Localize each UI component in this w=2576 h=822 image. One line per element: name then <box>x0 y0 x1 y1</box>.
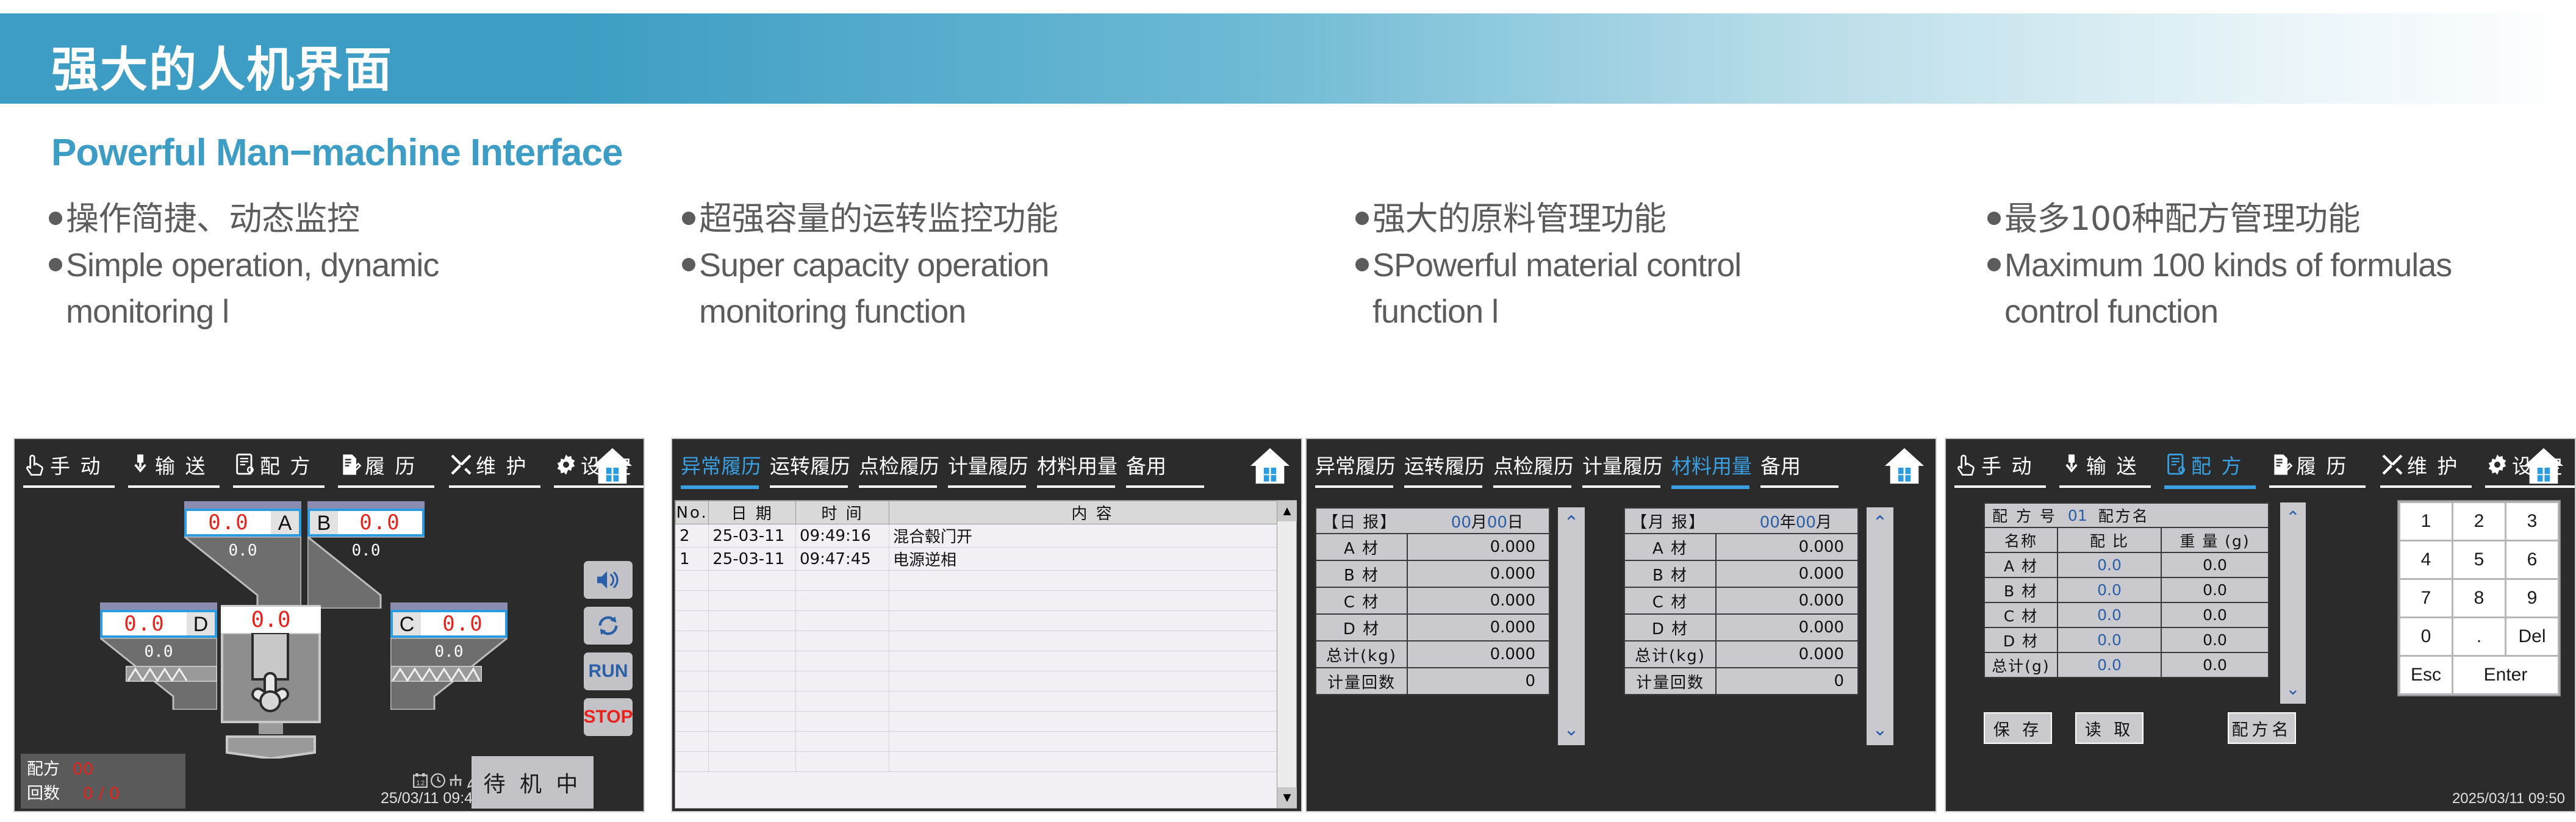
toolbar-label: 手 动 <box>50 450 102 479</box>
toolbar-item-recipe[interactable]: 配 方 <box>2164 448 2244 482</box>
toolbar-item-transport[interactable]: 输 送 <box>2059 448 2139 482</box>
process-diagram: 0.0 A 0.0 B 0.0 0.0 0.0 D <box>15 498 645 812</box>
tab-underline <box>1315 485 1393 488</box>
daily-report-header: 【日 报】 00月00日 <box>1315 507 1550 534</box>
feature-text-en: SPowerful material control <box>1372 245 1741 286</box>
hopper-cap <box>307 501 425 509</box>
key-1[interactable]: 1 <box>2400 503 2452 540</box>
cell-name: A 材 <box>1985 553 2058 577</box>
toolbar-underline <box>2164 485 2256 489</box>
feature-text-cn: 强大的原料管理功能 <box>1372 198 1667 240</box>
row-value: 0.000 <box>1717 561 1857 587</box>
row-value: 0.000 <box>1408 561 1549 587</box>
hopper-display[interactable]: 0.0 D <box>100 610 217 638</box>
cell-date: 25-03-11 <box>709 524 796 548</box>
feature-text-en-cont: control function <box>1987 291 2576 332</box>
status-mode-badge: 待 机 中 <box>472 756 594 809</box>
bullet-dot-icon <box>1355 258 1369 271</box>
feature-bullet-cn: 强大的原料管理功能 <box>1355 198 1965 240</box>
key-delete[interactable]: Del <box>2506 618 2558 655</box>
table-row[interactable] <box>676 571 1296 591</box>
col-content: 内 容 <box>889 501 1296 524</box>
hopper-display[interactable]: 0.0 A <box>184 509 301 537</box>
recipe-no-label: 配 方 号 <box>1992 504 2057 526</box>
tab-alarm-history[interactable]: 异常履历 <box>681 450 761 479</box>
hand-touch-icon <box>1954 452 1979 477</box>
wrench-icon <box>449 452 473 477</box>
hmi-screen-manual: 手 动 输 送 配 方 履 历 <box>13 438 645 812</box>
cell-name: 总计(g) <box>1985 653 2058 677</box>
cell-name: C 材 <box>1985 603 2058 627</box>
row-label: D 材 <box>1316 615 1408 640</box>
feature-bullet-cn: 超强容量的运转监控功能 <box>682 198 1292 240</box>
monthly-report-scroller[interactable]: ⌃ ⌄ <box>1867 507 1893 745</box>
hopper-tag: A <box>271 511 299 534</box>
tab-underline <box>770 485 848 488</box>
refresh-cycle-icon <box>596 613 620 638</box>
row-value: 0.000 <box>1408 642 1549 667</box>
table-row[interactable] <box>676 752 1296 772</box>
table-row[interactable] <box>676 712 1296 732</box>
toolbar-underline <box>2269 485 2366 488</box>
key-2[interactable]: 2 <box>2453 503 2505 540</box>
cell-weight: 0.0 <box>2162 603 2268 627</box>
row-label: 总计(kg) <box>1316 642 1408 667</box>
feature-column: 操作简捷、动态监控 Simple operation, dynamic moni… <box>49 198 659 332</box>
row-value: 0.000 <box>1717 615 1857 640</box>
scroll-down-icon[interactable]: ⌄ <box>1563 719 1579 740</box>
hopper-a[interactable]: 0.0 A 0.0 <box>184 501 301 609</box>
recipe-doc-icon <box>2164 452 2189 477</box>
recipe-scroller[interactable]: ⌃ ⌄ <box>2280 502 2306 704</box>
key-0[interactable]: 0 <box>2400 618 2452 655</box>
report-row: 计量回数0 <box>1624 668 1859 695</box>
run-button[interactable]: RUN <box>584 652 633 690</box>
tabbar: 异常履历 运转履历 点检履历 计量履历 材料用量 备用 <box>672 439 1301 498</box>
bullet-dot-icon <box>1355 212 1369 225</box>
key-enter[interactable]: Enter <box>2453 657 2558 693</box>
col-time: 时 间 <box>796 501 889 524</box>
table-row[interactable] <box>676 732 1296 752</box>
hopper-display[interactable]: C 0.0 <box>390 610 508 638</box>
toolbar-underline <box>2380 485 2472 488</box>
scroll-down-icon[interactable]: ⌄ <box>1872 719 1887 740</box>
key-4[interactable]: 4 <box>2400 541 2452 578</box>
tab-material-usage[interactable]: 材料用量 <box>1671 450 1752 479</box>
key-5[interactable]: 5 <box>2453 541 2505 578</box>
hopper-value: 0.0 <box>187 510 271 535</box>
toolbar-label: 配 方 <box>260 450 312 479</box>
cell-ratio[interactable]: 0.0 <box>2058 553 2162 577</box>
feature-bullet-en: Simple operation, dynamic <box>49 245 659 286</box>
page-subtitle: Powerful Man−machine Interface <box>51 131 622 174</box>
daily-day-unit: 日 <box>1507 513 1523 532</box>
table-row[interactable] <box>676 692 1296 712</box>
scroll-down-icon[interactable]: ⌄ <box>2286 679 2300 699</box>
tab-inspection-history[interactable]: 点检履历 <box>859 450 939 479</box>
cell-ratio[interactable]: 0.0 <box>2058 603 2162 627</box>
monthly-report-table: 【月 报】 00年00月 A 材0.000 B 材0.000 C 材0.000 … <box>1624 507 1859 695</box>
down-arrow-icon <box>128 452 152 477</box>
panel-clock: 2025/03/11 09:50 <box>2452 790 2565 807</box>
table-row[interactable] <box>676 631 1296 651</box>
tab-underline <box>681 485 759 489</box>
feature-bullet-en: Super capacity operation <box>682 245 1292 286</box>
row-label: B 材 <box>1316 561 1408 587</box>
hopper-subvalue: 0.0 <box>390 643 508 661</box>
tab-weighing-history[interactable]: 计量履历 <box>1582 450 1663 479</box>
key-decimal[interactable]: . <box>2453 618 2505 655</box>
cell-ratio[interactable]: 0.0 <box>2058 578 2162 602</box>
recipe-doc-icon <box>233 452 257 477</box>
daily-report-date[interactable]: 00月00日 <box>1451 510 1543 532</box>
table-header-row: No. 日 期 时 间 内 容 <box>676 501 1296 524</box>
home-icon[interactable] <box>591 444 634 488</box>
feature-text-en-cont: monitoring l <box>49 291 659 332</box>
table-row[interactable] <box>676 651 1296 671</box>
recipe-name-button[interactable]: 配方名 <box>2228 712 2296 744</box>
tab-underline <box>1671 485 1749 489</box>
feature-text-en-cont: monitoring function <box>682 291 1292 332</box>
row-label: C 材 <box>1316 588 1408 613</box>
status-count-row: 回数 0 / 0 <box>27 782 179 806</box>
report-row: B 材0.000 <box>1315 561 1550 588</box>
feature-column: 超强容量的运转监控功能 Super capacity operation mon… <box>682 198 1292 332</box>
feature-text-en: Maximum 100 kinds of formulas <box>2004 245 2452 286</box>
feature-text-cn: 最多100种配方管理功能 <box>2004 198 2360 240</box>
report-row: 总计(kg)0.000 <box>1315 642 1550 668</box>
feature-bullet-en: SPowerful material control <box>1355 245 1965 286</box>
hopper-tag: C <box>393 612 421 635</box>
row-label: A 材 <box>1625 534 1717 560</box>
tab-underline <box>1582 485 1660 488</box>
row-value: 0.000 <box>1408 615 1549 640</box>
recipe-row: D 材 0.0 0.0 <box>1984 628 2269 653</box>
calendar-icon: 12 <box>412 773 428 788</box>
stop-button[interactable]: STOP <box>584 698 633 736</box>
monthly-month-unit: 月 <box>1816 513 1832 532</box>
cell-ratio: 0.0 <box>2058 653 2162 677</box>
chart-icon <box>448 773 464 788</box>
scroll-up-button[interactable]: ▲ <box>1277 501 1297 521</box>
row-value: 0 <box>1408 668 1549 694</box>
feature-text-cn: 超强容量的运转监控功能 <box>699 198 1058 240</box>
hopper-c[interactable]: C 0.0 0.0 <box>390 602 508 710</box>
hand-touch-icon <box>23 452 48 477</box>
bullet-dot-icon <box>49 258 62 271</box>
feature-text-cn: 操作简捷、动态监控 <box>66 198 360 240</box>
toolbar-item-maintenance[interactable]: 维 护 <box>449 448 528 482</box>
tab-underline <box>1493 485 1571 488</box>
key-7[interactable]: 7 <box>2400 580 2452 616</box>
tab-underline <box>948 485 1026 488</box>
cell-weight: 0.0 <box>2162 578 2268 602</box>
key-9[interactable]: 9 <box>2506 580 2558 616</box>
control-buttons: RUN STOP <box>584 561 633 744</box>
log-scrollbar[interactable]: ▲ ▼ <box>1277 501 1296 808</box>
report-row: A 材0.000 <box>1315 534 1550 561</box>
save-button[interactable]: 保 存 <box>1984 712 2052 744</box>
cell-content: 混合毂门开 <box>889 524 1296 548</box>
row-value: 0.000 <box>1408 534 1549 560</box>
gear-icon <box>554 452 578 477</box>
hopper-cap <box>390 602 508 610</box>
wrench-icon <box>2380 452 2405 477</box>
feature-bullet-cn: 最多100种配方管理功能 <box>1987 198 2576 240</box>
table-row[interactable] <box>676 591 1296 611</box>
tabbar: 异常履历 运转履历 点检履历 计量履历 材料用量 备用 <box>1307 439 1936 498</box>
home-icon[interactable] <box>2522 444 2565 488</box>
feeder-screw-icon <box>126 666 217 682</box>
feature-bullet-cn: 操作简捷、动态监控 <box>49 198 659 240</box>
tab-spare[interactable]: 备用 <box>1760 450 1801 479</box>
toolbar-underline <box>1954 485 2046 488</box>
tab-underline <box>1404 485 1482 488</box>
scroll-up-icon[interactable]: ⌃ <box>1563 512 1579 534</box>
read-button[interactable]: 读 取 <box>2075 712 2144 744</box>
bullet-dot-icon <box>682 258 695 271</box>
toolbar: 手 动 输 送 配 方 履 历 <box>1946 439 2575 498</box>
alarm-sound-button[interactable] <box>584 561 633 599</box>
key-esc[interactable]: Esc <box>2400 657 2452 693</box>
status-count-value: 0 / 0 <box>83 782 120 806</box>
page-title: 强大的人机界面 <box>51 32 393 100</box>
recipe-total-row: 总计(g) 0.0 0.0 <box>1984 653 2269 678</box>
cell-weight: 0.0 <box>2162 628 2268 652</box>
toolbar-underline <box>128 485 220 488</box>
row-label: 计量回数 <box>1316 668 1408 694</box>
row-label: B 材 <box>1625 561 1717 587</box>
toolbar-item-manual[interactable]: 手 动 <box>1954 448 2034 482</box>
status-panel: 配方 00 回数 0 / 0 <box>21 754 185 809</box>
cell-weight: 0.0 <box>2162 653 2268 677</box>
cell-content: 电源逆相 <box>889 548 1296 571</box>
col-date: 日 期 <box>709 501 796 524</box>
table-row[interactable] <box>676 671 1296 692</box>
monthly-year-value: 00 <box>1760 513 1780 532</box>
key-6[interactable]: 6 <box>2506 541 2558 578</box>
cell-name: D 材 <box>1985 628 2058 652</box>
status-clock: 25/03/11 09:48 <box>381 790 481 807</box>
cell-no: 2 <box>676 524 709 548</box>
feeder-screw-icon <box>390 666 482 682</box>
daily-report-scroller[interactable]: ⌃ ⌄ <box>1558 507 1585 745</box>
clock-icon <box>430 773 446 788</box>
row-label: 计量回数 <box>1625 668 1717 694</box>
toolbar-item-history[interactable]: 履 历 <box>338 448 417 482</box>
scroll-up-icon[interactable]: ⌃ <box>1872 512 1887 534</box>
col-name: 名称 <box>1985 528 2058 552</box>
cell-weight: 0.0 <box>2162 553 2268 577</box>
bullet-dot-icon <box>1987 212 2001 225</box>
hopper-cap <box>184 501 301 509</box>
bullet-dot-icon <box>49 212 62 225</box>
tab-alarm-history[interactable]: 异常履历 <box>1315 450 1396 479</box>
log-table: No. 日 期 时 间 内 容 2 25-03-11 09:49:16 混合毂门… <box>675 501 1296 772</box>
toolbar-label: 手 动 <box>1981 450 2034 479</box>
toolbar-underline <box>233 485 325 488</box>
recipe-row: A 材 0.0 0.0 <box>1984 553 2269 578</box>
mixer-vessel-icon <box>221 633 321 759</box>
daily-month-value: 00 <box>1451 513 1471 532</box>
hopper-subvalue: 0.0 <box>307 541 425 560</box>
feature-column: 强大的原料管理功能 SPowerful material control fun… <box>1355 198 1965 332</box>
monthly-report-header: 【月 报】 00年00月 <box>1624 507 1859 534</box>
toolbar-label: 维 护 <box>2407 450 2459 479</box>
row-label: 总计(kg) <box>1625 642 1717 667</box>
recipe-row: C 材 0.0 0.0 <box>1984 603 2269 628</box>
mixer-weight-display[interactable]: 0.0 <box>221 605 321 633</box>
recipe-no-value[interactable]: 01 <box>2068 507 2087 524</box>
table-row[interactable] <box>676 611 1296 631</box>
row-label: A 材 <box>1316 534 1408 560</box>
toolbar-underline <box>23 485 115 488</box>
tab-underline <box>1126 485 1204 488</box>
toolbar-item-recipe[interactable]: 配 方 <box>233 448 312 482</box>
daily-month-unit: 月 <box>1471 513 1487 532</box>
toolbar-underline <box>449 485 540 488</box>
monthly-report-date[interactable]: 00年00月 <box>1760 510 1851 532</box>
status-count-label: 回数 <box>27 782 60 806</box>
status-recipe-value: 00 <box>73 757 93 782</box>
svg-text:2: 2 <box>421 780 425 787</box>
home-icon[interactable] <box>1883 444 1926 488</box>
cell-ratio[interactable]: 0.0 <box>2058 628 2162 652</box>
toolbar-item-history[interactable]: 履 历 <box>2269 448 2348 482</box>
toolbar-label: 履 历 <box>365 450 417 479</box>
tab-inspection-history[interactable]: 点检履历 <box>1493 450 1574 479</box>
hmi-screen-recipe: 手 动 输 送 配 方 履 历 <box>1945 438 2576 812</box>
hopper-body: 0.0 <box>307 537 425 609</box>
hopper-value: 0.0 <box>338 510 422 535</box>
report-row: C 材0.000 <box>1624 588 1859 615</box>
toolbar-item-manual[interactable]: 手 动 <box>23 448 102 482</box>
key-8[interactable]: 8 <box>2453 580 2505 616</box>
hopper-subvalue: 0.0 <box>100 643 217 661</box>
toolbar-label: 履 历 <box>2296 450 2348 479</box>
toolbar-label: 配 方 <box>2191 450 2244 479</box>
report-row: C 材0.000 <box>1315 588 1550 615</box>
tab-material-usage[interactable]: 材料用量 <box>1037 450 1118 479</box>
col-no: No. <box>676 501 709 524</box>
hmi-screen-history: 异常履历 运转履历 点检履历 计量履历 材料用量 备用 No. 日 期 时 间 … <box>671 438 1302 812</box>
hopper-body: 0.0 <box>184 537 301 609</box>
status-clock-area: 12 25/03/11 09:48 <box>381 773 481 807</box>
monthly-report-title: 【月 报】 <box>1631 510 1706 532</box>
status-recipe-label: 配方 <box>27 757 60 782</box>
toolbar-underline <box>2059 485 2151 488</box>
hopper-tag: B <box>310 511 338 534</box>
tab-operation-history[interactable]: 运转履历 <box>1404 450 1485 479</box>
report-row: A 材0.000 <box>1624 534 1859 561</box>
row-value: 0.000 <box>1717 642 1857 667</box>
status-icon-row: 12 <box>381 773 481 788</box>
feature-text-en: Super capacity operation <box>699 245 1049 286</box>
hopper-display[interactable]: B 0.0 <box>307 509 425 537</box>
cycle-reset-button[interactable] <box>584 607 633 645</box>
daily-report-table: 【日 报】 00月00日 A 材0.000 B 材0.000 C 材0.000 … <box>1315 507 1550 695</box>
row-value: 0.000 <box>1717 534 1857 560</box>
report-row: 总计(kg)0.000 <box>1624 642 1859 668</box>
row-value: 0 <box>1717 668 1857 694</box>
tab-operation-history[interactable]: 运转履历 <box>770 450 850 479</box>
monthly-month-value: 00 <box>1796 513 1816 532</box>
row-label: D 材 <box>1625 615 1717 640</box>
table-row[interactable]: 1 25-03-11 09:47:45 电源逆相 <box>676 548 1296 571</box>
hopper-d[interactable]: 0.0 D 0.0 <box>100 602 217 710</box>
table-row[interactable]: 2 25-03-11 09:49:16 混合毂门开 <box>676 524 1296 548</box>
cell-no: 1 <box>676 548 709 571</box>
tab-weighing-history[interactable]: 计量履历 <box>948 450 1028 479</box>
cell-time: 09:49:16 <box>796 524 889 548</box>
monthly-year-unit: 年 <box>1780 513 1796 532</box>
report-row: 计量回数0 <box>1315 668 1550 695</box>
scroll-up-icon[interactable]: ⌃ <box>2286 507 2300 527</box>
feature-list: 操作简捷、动态监控 Simple operation, dynamic moni… <box>0 198 2576 363</box>
toolbar-label: 输 送 <box>2086 450 2139 479</box>
tab-spare[interactable]: 备用 <box>1126 450 1166 479</box>
status-recipe-row: 配方 00 <box>27 757 179 782</box>
hopper-cap <box>100 602 217 610</box>
hopper-subvalue: 0.0 <box>184 541 301 560</box>
tab-underline <box>1037 485 1115 488</box>
col-weight: 重 量 (g) <box>2162 528 2268 552</box>
toolbar-item-maintenance[interactable]: 维 护 <box>2380 448 2459 482</box>
toolbar-underline <box>338 485 434 488</box>
toolbar-item-transport[interactable]: 输 送 <box>128 448 207 482</box>
key-3[interactable]: 3 <box>2506 503 2558 540</box>
recipe-table: 配 方 号 01 配方名 名称 配 比 重 量 (g) A 材 0.0 0.0 … <box>1984 502 2269 678</box>
toolbar-label: 维 护 <box>476 450 528 479</box>
report-row: B 材0.000 <box>1624 561 1859 588</box>
feature-bullet-en: Maximum 100 kinds of formulas <box>1987 245 2576 286</box>
tab-underline <box>1760 485 1839 488</box>
toolbar-label: 输 送 <box>155 450 207 479</box>
recipe-name-label: 配方名 <box>2098 504 2150 526</box>
alarm-log-table: No. 日 期 时 间 内 容 2 25-03-11 09:49:16 混合毂门… <box>675 500 1297 809</box>
home-icon[interactable] <box>1249 444 1291 488</box>
daily-day-value: 00 <box>1487 513 1507 532</box>
recipe-header: 配 方 号 01 配方名 <box>1984 502 2269 528</box>
recipe-column-header: 名称 配 比 重 量 (g) <box>1984 528 2269 553</box>
hopper-value: 0.0 <box>102 612 187 636</box>
report-row: D 材0.000 <box>1624 615 1859 642</box>
cell-name: B 材 <box>1985 578 2058 602</box>
bullet-dot-icon <box>1987 258 2001 271</box>
history-doc-icon <box>2269 452 2294 477</box>
daily-report-title: 【日 报】 <box>1322 510 1397 532</box>
feature-text-en: Simple operation, dynamic <box>66 245 439 286</box>
cell-date: 25-03-11 <box>709 548 796 571</box>
hopper-value: 0.0 <box>421 612 505 636</box>
svg-text:1: 1 <box>416 780 420 787</box>
speaker-icon <box>595 569 622 591</box>
row-value: 0.000 <box>1408 588 1549 613</box>
down-arrow-icon <box>2059 452 2084 477</box>
report-row: D 材0.000 <box>1315 615 1550 642</box>
recipe-row: B 材 0.0 0.0 <box>1984 578 2269 603</box>
scroll-down-button[interactable]: ▼ <box>1277 787 1297 808</box>
toolbar: 手 动 输 送 配 方 履 历 <box>15 439 644 498</box>
hopper-b[interactable]: B 0.0 0.0 <box>307 501 425 609</box>
mixer-value: 0.0 <box>251 607 290 632</box>
feature-column: 最多100种配方管理功能 Maximum 100 kinds of formul… <box>1987 198 2576 332</box>
hopper-tag: D <box>187 612 215 635</box>
row-value: 0.000 <box>1717 588 1857 613</box>
hmi-screen-material-usage: 异常履历 运转履历 点检履历 计量履历 材料用量 备用 【日 报】 00月00日… <box>1305 438 1937 812</box>
row-label: C 材 <box>1625 588 1717 613</box>
numeric-keypad: 1 2 3 4 5 6 7 8 9 0 . Del Esc Enter <box>2397 500 2561 696</box>
